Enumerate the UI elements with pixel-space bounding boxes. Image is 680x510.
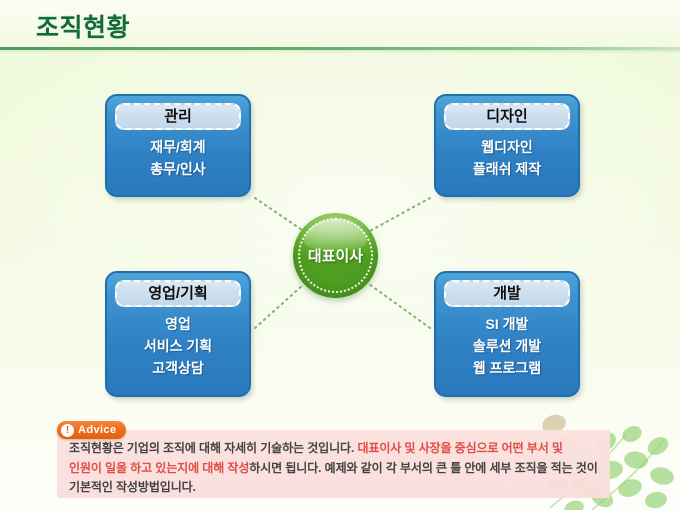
dept-box-develop[interactable]: 개발 SI 개발 솔루션 개발 웹 프로그램 <box>434 271 580 397</box>
dept-header-design: 디자인 <box>444 103 570 130</box>
dept-items-develop: SI 개발 솔루션 개발 웹 프로그램 <box>444 313 570 379</box>
advice-text: 조직현황은 기업의 조직에 대해 자세히 기술하는 것입니다. 대표이사 및 사… <box>69 439 598 498</box>
slide-header: 조직현황 <box>0 0 680 49</box>
dept-header-sales: 영업/기획 <box>115 280 241 307</box>
dept-title-develop: 개발 <box>493 286 521 301</box>
page-title: 조직현황 <box>36 8 130 44</box>
dept-item: 고객상담 <box>152 357 204 379</box>
dept-item: 솔루션 개발 <box>473 335 541 357</box>
dept-item: 플래쉬 제작 <box>473 158 541 180</box>
dept-title-management: 관리 <box>164 109 192 124</box>
exclamation-icon: ! <box>61 424 74 437</box>
advice-badge-label: Advice <box>78 424 116 437</box>
slide-canvas: 조직현황 관리 재무/회계 총무/인사 디자인 웹디자인 플래쉬 제작 영업/기… <box>0 0 680 510</box>
dept-header-develop: 개발 <box>444 280 570 307</box>
advice-text-plain: 조직현황은 기업의 조직에 대해 자세히 기술하는 것입니다. <box>69 441 357 455</box>
dept-box-design[interactable]: 디자인 웹디자인 플래쉬 제작 <box>434 94 580 197</box>
dept-item: 영업 <box>165 313 191 335</box>
header-divider-shadow <box>0 50 680 54</box>
dept-box-management[interactable]: 관리 재무/회계 총무/인사 <box>105 94 251 197</box>
dept-item: 웹 프로그램 <box>473 357 541 379</box>
dept-items-management: 재무/회계 총무/인사 <box>115 136 241 180</box>
dept-title-sales: 영업/기획 <box>148 286 207 301</box>
dept-item: 서비스 기획 <box>144 335 212 357</box>
dept-item: 총무/인사 <box>150 158 205 180</box>
center-node-ceo[interactable]: 대표이사 <box>293 213 378 298</box>
center-label-ceo: 대표이사 <box>293 213 378 298</box>
dept-item: 웹디자인 <box>481 136 533 158</box>
advice-box: 조직현황은 기업의 조직에 대해 자세히 기술하는 것입니다. 대표이사 및 사… <box>57 430 610 498</box>
dept-item: SI 개발 <box>486 313 529 335</box>
dept-title-design: 디자인 <box>486 109 527 124</box>
dept-items-sales: 영업 서비스 기획 고객상담 <box>115 313 241 379</box>
dept-items-design: 웹디자인 플래쉬 제작 <box>444 136 570 180</box>
advice-badge: ! Advice <box>57 421 126 439</box>
dept-item: 재무/회계 <box>150 136 205 158</box>
dept-box-sales[interactable]: 영업/기획 영업 서비스 기획 고객상담 <box>105 271 251 397</box>
dept-header-management: 관리 <box>115 103 241 130</box>
